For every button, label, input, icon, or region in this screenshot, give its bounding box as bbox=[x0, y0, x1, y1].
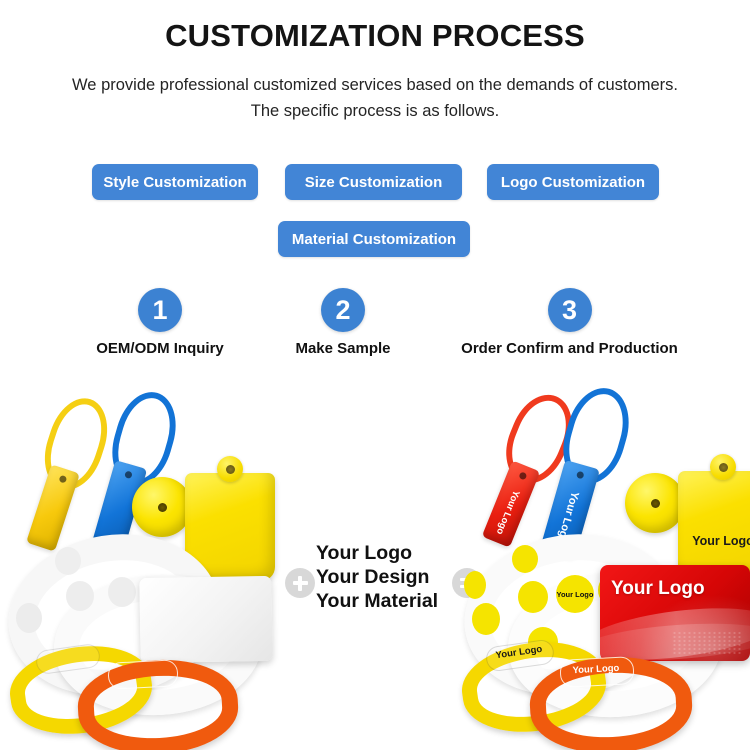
slogan-line-2: Your Design bbox=[316, 565, 446, 589]
wristband-dot bbox=[108, 577, 136, 607]
wristband-dot-yellow bbox=[464, 571, 486, 599]
product-pvc-card-red: Your Logo bbox=[600, 565, 750, 661]
seal-hole-icon bbox=[124, 470, 133, 479]
page-title: CUSTOMIZATION PROCESS bbox=[0, 18, 750, 54]
blank-products-panel bbox=[0, 385, 300, 750]
step-number-badge-3: 3 bbox=[548, 288, 592, 332]
slogan-line-1: Your Logo bbox=[316, 541, 446, 565]
product-seal-tag-blue: Your Logo bbox=[538, 387, 638, 557]
seal-hole-icon bbox=[518, 471, 527, 480]
seal-body-yellow bbox=[26, 464, 80, 551]
step-number-badge-2: 2 bbox=[321, 288, 365, 332]
step-label-1: OEM/ODM Inquiry bbox=[60, 340, 260, 357]
seal-label-red: Your Logo bbox=[500, 488, 521, 520]
subtitle-line-1: We provide professional customized servi… bbox=[72, 76, 678, 94]
step-label-3: Order Confirm and Production bbox=[437, 340, 702, 357]
process-step-1: 1 OEM/ODM Inquiry bbox=[60, 288, 260, 357]
process-step-3: 3 Order Confirm and Production bbox=[437, 288, 702, 357]
card-logo-label: Your Logo bbox=[611, 578, 705, 600]
wristband-dot-yellow bbox=[512, 545, 538, 573]
wristband-logo-label: Your Logo bbox=[557, 590, 594, 599]
subtitle-line-2: The specific process is as follows. bbox=[0, 98, 750, 124]
slogan-line-3: Your Material bbox=[316, 589, 446, 613]
step-number-badge-1: 1 bbox=[138, 288, 182, 332]
product-pvc-card-white bbox=[139, 576, 272, 663]
silicone-plate-orange bbox=[107, 659, 178, 690]
pill-style-customization[interactable]: Style Customization bbox=[92, 164, 258, 200]
seal-label-blue: Your Logo bbox=[559, 490, 580, 528]
pill-size-customization[interactable]: Size Customization bbox=[285, 164, 462, 200]
product-ear-tag-button-yellow bbox=[625, 473, 685, 533]
card-dot-pattern bbox=[672, 631, 742, 655]
wristband-dot-yellow bbox=[518, 581, 548, 613]
step-label-2: Make Sample bbox=[263, 340, 423, 357]
process-step-2: 2 Make Sample bbox=[263, 288, 423, 357]
pill-logo-customization[interactable]: Logo Customization bbox=[487, 164, 659, 200]
wristband-dot bbox=[66, 581, 94, 611]
product-ear-tag-button-yellow bbox=[132, 477, 192, 537]
ear-tag-neck bbox=[217, 456, 243, 482]
page-subtitle: We provide professional customized servi… bbox=[0, 72, 750, 124]
wristband-dot-logo: Your Logo bbox=[556, 575, 594, 613]
customization-process-infographic: CUSTOMIZATION PROCESS We provide profess… bbox=[0, 0, 750, 750]
plus-icon-vertical bbox=[298, 576, 301, 591]
ear-tag-label: Your Logo bbox=[678, 534, 750, 548]
wristband-dot-yellow bbox=[472, 603, 500, 635]
seal-hole-icon bbox=[575, 471, 584, 480]
slogan-block: Your Logo Your Design Your Material bbox=[316, 541, 446, 613]
pill-material-customization[interactable]: Material Customization bbox=[278, 221, 470, 257]
ear-tag-neck bbox=[710, 454, 736, 480]
seal-body-red: Your Logo bbox=[482, 460, 541, 547]
plus-operator-badge bbox=[285, 568, 315, 598]
branded-products-panel: Your Logo Your Logo Your Logo Your L bbox=[450, 385, 750, 750]
product-ear-tag-yellow: Your Logo bbox=[678, 471, 750, 579]
wristband-dot bbox=[55, 547, 81, 575]
wristband-dot bbox=[16, 603, 42, 633]
seal-hole-icon bbox=[58, 475, 67, 484]
